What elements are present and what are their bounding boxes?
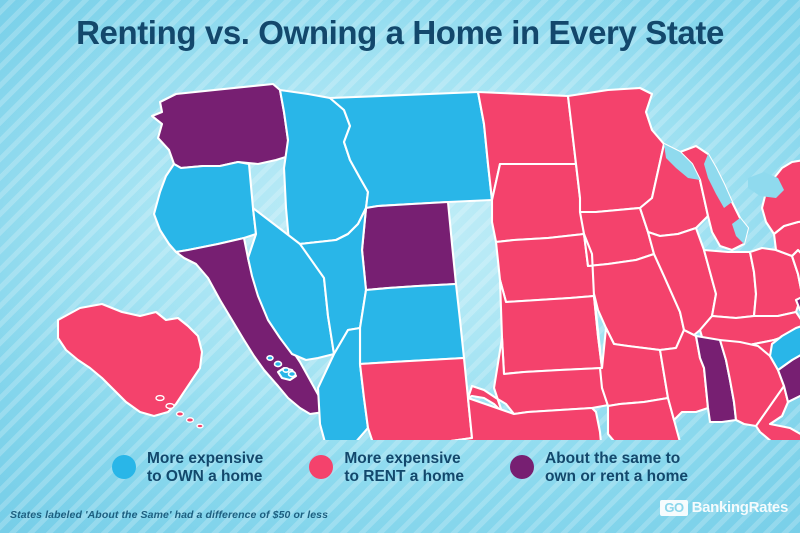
state-sd bbox=[492, 164, 584, 242]
state-hi-island-0 bbox=[267, 356, 273, 360]
infographic-canvas: Renting vs. Owning a Home in Every State… bbox=[0, 0, 800, 533]
state-ak-aleutian-3 bbox=[187, 418, 194, 422]
legend-label-rent-line1: More expensive bbox=[344, 450, 464, 468]
legend-label-same-line1: About the same to bbox=[545, 450, 688, 468]
legend-label-own-line2: to OWN a home bbox=[147, 468, 263, 486]
legend-label-same-line2: own or rent a home bbox=[545, 468, 688, 486]
state-ak-aleutian-4 bbox=[197, 424, 203, 428]
state-wa bbox=[152, 84, 289, 168]
legend: More expensive to OWN a home More expens… bbox=[0, 450, 800, 498]
footnote: States labeled 'About the Same' had a di… bbox=[10, 509, 328, 521]
legend-swatch-own bbox=[112, 455, 136, 479]
state-wy bbox=[362, 202, 456, 290]
legend-item-same: About the same to own or rent a home bbox=[510, 450, 688, 486]
state-hi-island-3 bbox=[289, 371, 296, 376]
legend-label-own: More expensive to OWN a home bbox=[147, 450, 263, 486]
logo-badge: GO bbox=[660, 500, 687, 516]
legend-item-rent: More expensive to RENT a home bbox=[309, 450, 464, 486]
state-hi-island-2 bbox=[283, 368, 289, 372]
legend-item-own: More expensive to OWN a home bbox=[112, 450, 263, 486]
page-title: Renting vs. Owning a Home in Every State bbox=[0, 14, 800, 52]
state-ak-aleutian-0 bbox=[156, 396, 164, 401]
state-ak-aleutian-1 bbox=[166, 404, 174, 409]
legend-swatch-rent bbox=[309, 455, 333, 479]
legend-label-rent: More expensive to RENT a home bbox=[344, 450, 464, 486]
legend-label-own-line1: More expensive bbox=[147, 450, 263, 468]
logo-name: BankingRates bbox=[692, 499, 788, 516]
legend-swatch-same bbox=[510, 455, 534, 479]
legend-label-rent-line2: to RENT a home bbox=[344, 468, 464, 486]
state-nm bbox=[360, 358, 472, 440]
us-choropleth-map bbox=[48, 68, 800, 440]
legend-label-same: About the same to own or rent a home bbox=[545, 450, 688, 486]
state-mn bbox=[568, 88, 664, 212]
state-ak-aleutian-2 bbox=[177, 412, 184, 416]
state-hi-island-1 bbox=[275, 361, 282, 366]
state-ak bbox=[58, 304, 202, 416]
brand-logo: GO BankingRates bbox=[660, 499, 788, 516]
map-svg bbox=[48, 68, 800, 440]
state-co bbox=[360, 284, 464, 364]
state-ny bbox=[762, 160, 800, 234]
